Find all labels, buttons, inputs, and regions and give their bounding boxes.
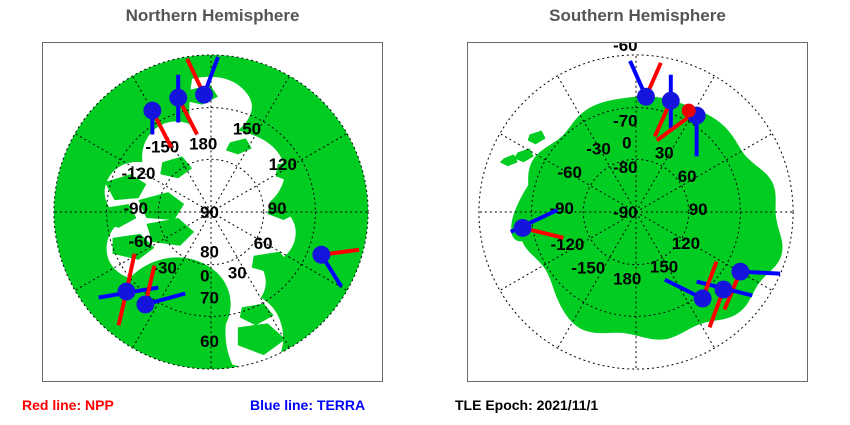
satellite-dot-n6 xyxy=(136,296,154,314)
satellite-dot-n4 xyxy=(312,246,330,264)
south-lon-label-30: 30 xyxy=(655,143,674,162)
north-plot-svg: 180 150 120 90 60 30 0 -30 -60 -90 -120 … xyxy=(43,43,382,381)
southern-hemisphere-panel: Southern Hemisphere xyxy=(425,0,850,425)
north-lon-label-m60: -60 xyxy=(128,232,152,251)
satellite-dot-n2 xyxy=(169,89,187,107)
north-panel-title: Northern Hemisphere xyxy=(0,6,425,26)
legend-npp: Red line: NPP xyxy=(22,397,114,413)
north-lat-label-90: 90 xyxy=(200,203,219,222)
north-lon-label-60: 60 xyxy=(254,234,273,253)
south-lon-label-90: 90 xyxy=(689,200,708,219)
south-plot-frame: 0 30 60 90 120 150 180 -150 -120 -90 -60… xyxy=(467,42,808,382)
satellite-dot-s1 xyxy=(637,88,655,106)
south-lon-label-180: 180 xyxy=(613,270,641,289)
northern-hemisphere-panel: Northern Hemisphere xyxy=(0,0,425,425)
north-lon-label-m150: -150 xyxy=(145,137,179,156)
south-panel-title: Southern Hemisphere xyxy=(425,6,850,26)
south-lat-label-m60: -60 xyxy=(613,43,637,55)
north-lon-label-180: 180 xyxy=(189,134,217,153)
north-lon-label-0: 0 xyxy=(200,267,209,286)
north-lat-label-80: 80 xyxy=(200,243,219,262)
south-lon-label-150: 150 xyxy=(650,258,678,277)
north-lon-label-m30: -30 xyxy=(152,259,176,278)
north-lon-label-150: 150 xyxy=(233,119,261,138)
south-plot-svg: 0 30 60 90 120 150 180 -150 -120 -90 -60… xyxy=(468,43,807,381)
south-lon-label-m90: -90 xyxy=(550,199,574,218)
satellite-dot-s5 xyxy=(731,263,749,281)
satellite-dot-n5 xyxy=(118,283,136,301)
legend-terra: Blue line: TERRA xyxy=(250,397,365,413)
north-lon-label-m120: -120 xyxy=(122,164,156,183)
north-lon-label-90: 90 xyxy=(268,199,287,218)
south-lat-label-m90: -90 xyxy=(613,203,637,222)
south-lon-label-60: 60 xyxy=(678,167,697,186)
satellite-dot-s7 xyxy=(694,290,712,308)
satellite-dot-n1 xyxy=(143,102,161,120)
south-lon-label-120: 120 xyxy=(672,234,700,253)
north-lat-label-60: 60 xyxy=(200,332,219,351)
south-lat-label-m80: -80 xyxy=(613,158,637,177)
satellite-dot-s4 xyxy=(514,219,532,237)
polar-map-figure: Northern Hemisphere xyxy=(0,0,850,425)
north-lat-label-70: 70 xyxy=(200,288,219,307)
south-lat-label-m70: -70 xyxy=(613,112,637,131)
satellite-dot-s3-red xyxy=(682,104,696,118)
south-lon-label-m150: -150 xyxy=(571,259,605,278)
satellite-dot-s6 xyxy=(715,281,733,299)
north-lon-label-30: 30 xyxy=(228,264,247,283)
south-lon-label-m60: -60 xyxy=(557,163,581,182)
north-lon-label-m90: -90 xyxy=(124,199,148,218)
satellite-dot-n3 xyxy=(195,86,213,104)
south-lon-label-0: 0 xyxy=(622,133,631,152)
north-plot-frame: 180 150 120 90 60 30 0 -30 -60 -90 -120 … xyxy=(42,42,383,382)
south-lon-label-m30: -30 xyxy=(586,139,610,158)
north-lon-label-120: 120 xyxy=(269,155,297,174)
legend-epoch: TLE Epoch: 2021/11/1 xyxy=(455,397,598,413)
satellite-dot-s2 xyxy=(662,92,680,110)
